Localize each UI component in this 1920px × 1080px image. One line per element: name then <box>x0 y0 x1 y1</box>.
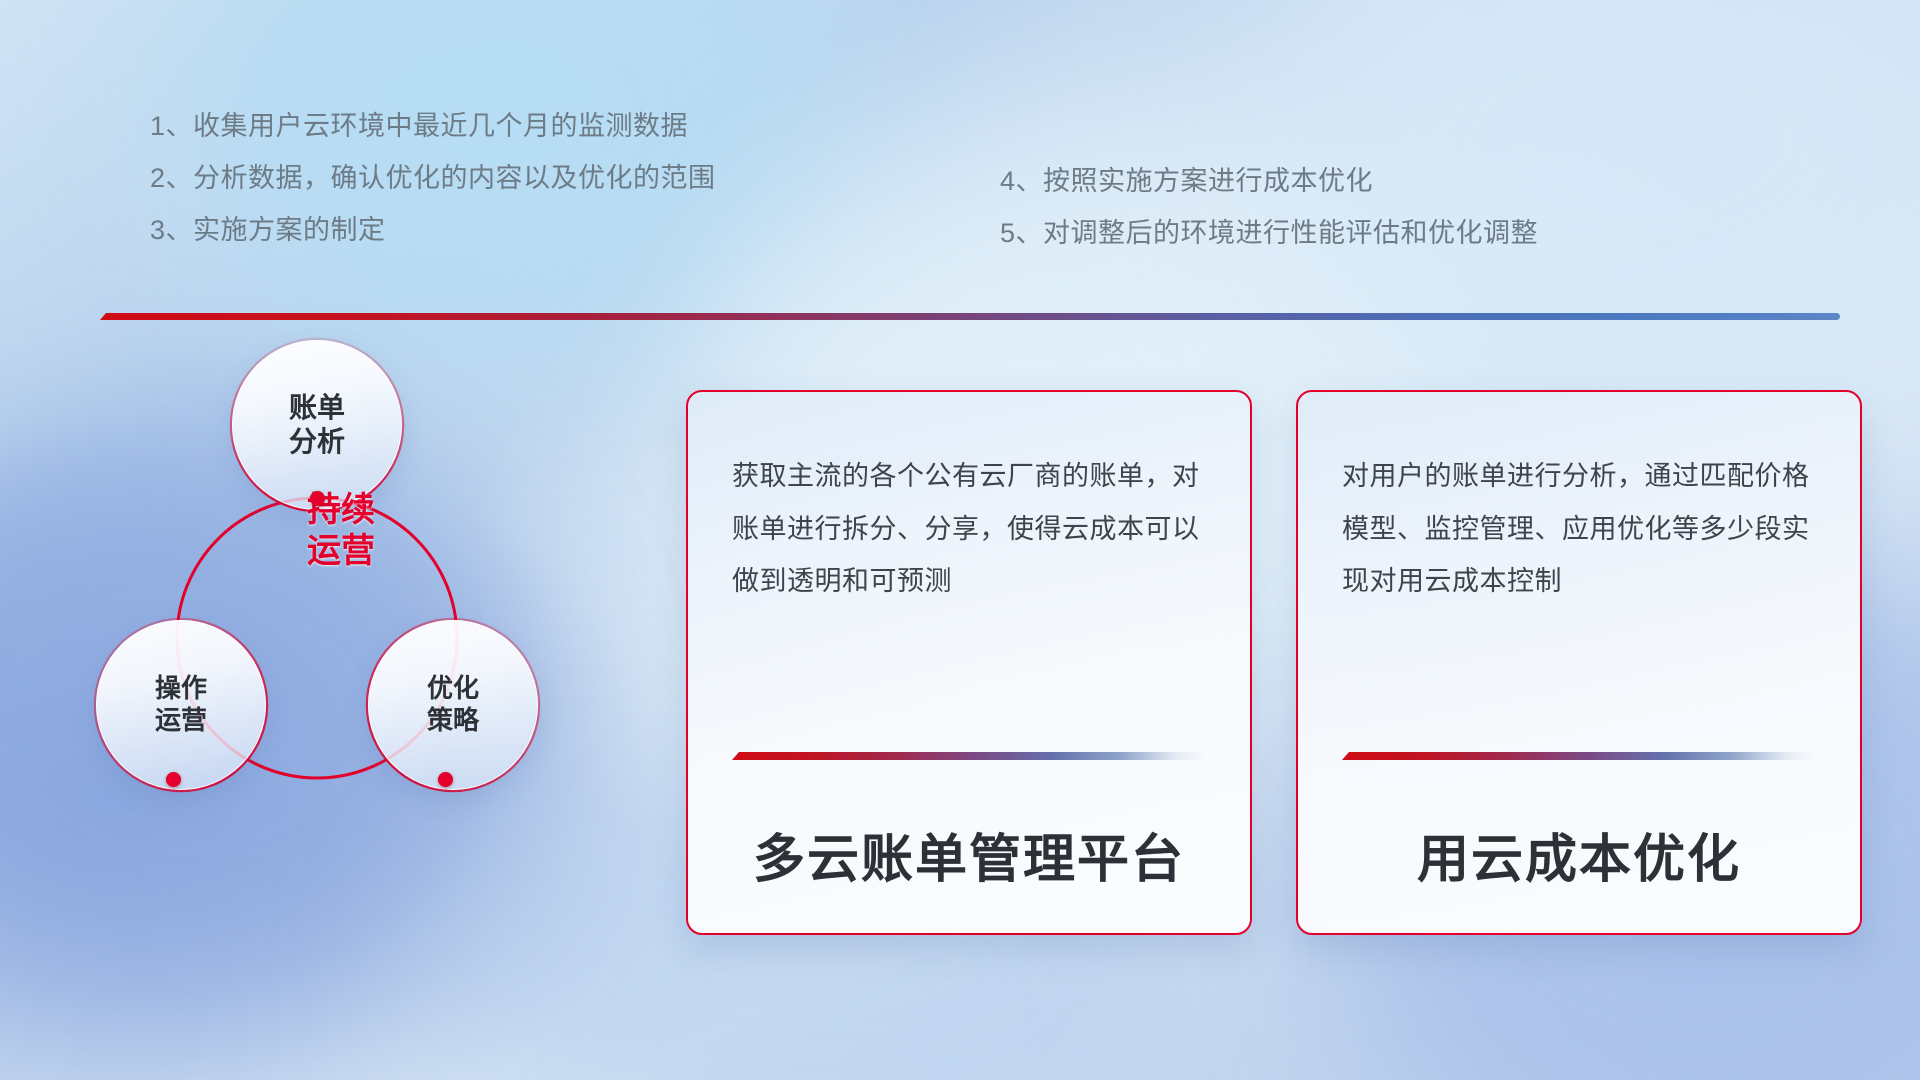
card-divider-rule <box>732 752 1206 760</box>
venn-connector-dot-right <box>438 772 453 787</box>
card-body-text: 获取主流的各个公有云厂商的账单，对账单进行拆分、分享，使得云成本可以做到透明和可… <box>732 450 1206 608</box>
card-title: 用云成本优化 <box>1342 817 1816 892</box>
header-divider-rule <box>100 313 1840 320</box>
venn-center-label: 持续 运营 <box>246 490 436 573</box>
bullet-item: 4、按照实施方案进行成本优化 <box>1000 155 1538 207</box>
venn-node-label-line2: 运营 <box>155 705 207 735</box>
venn-node-label-line2: 策略 <box>427 705 479 735</box>
card-title: 多云账单管理平台 <box>732 817 1206 892</box>
card-divider-rule <box>1342 752 1816 760</box>
venn-node-operations[interactable]: 操作 运营 <box>96 620 266 790</box>
venn-node-label-line1: 优化 <box>427 673 479 703</box>
bullet-item: 1、收集用户云环境中最近几个月的监测数据 <box>150 100 716 152</box>
feature-card-cost-optimization[interactable]: 对用户的账单进行分析，通过匹配价格模型、监控管理、应用优化等多少段实现对用云成本… <box>1296 390 1862 935</box>
venn-diagram: 账单 分析 操作 运营 优化 策略 持续 运营 <box>96 340 566 940</box>
venn-node-label: 账单 分析 <box>289 391 345 459</box>
bullet-item: 5、对调整后的环境进行性能评估和优化调整 <box>1000 207 1538 259</box>
card-body-text: 对用户的账单进行分析，通过匹配价格模型、监控管理、应用优化等多少段实现对用云成本… <box>1342 450 1816 608</box>
venn-node-label-line2: 分析 <box>289 426 345 457</box>
venn-connector-dot-top <box>310 491 325 506</box>
venn-center-label-line2: 运营 <box>307 532 375 570</box>
venn-node-bill-analysis[interactable]: 账单 分析 <box>232 340 402 510</box>
venn-node-label-line1: 操作 <box>155 673 207 703</box>
feature-card-multicloud-billing[interactable]: 获取主流的各个公有云厂商的账单，对账单进行拆分、分享，使得云成本可以做到透明和可… <box>686 390 1252 935</box>
venn-node-label-line1: 账单 <box>289 392 345 423</box>
bullet-item: 2、分析数据，确认优化的内容以及优化的范围 <box>150 152 716 204</box>
bullet-list-right: 4、按照实施方案进行成本优化 5、对调整后的环境进行性能评估和优化调整 <box>1000 155 1538 259</box>
bullet-list-left: 1、收集用户云环境中最近几个月的监测数据 2、分析数据，确认优化的内容以及优化的… <box>150 100 716 256</box>
venn-connector-dot-left <box>166 772 181 787</box>
bullet-item: 3、实施方案的制定 <box>150 204 716 256</box>
venn-node-label: 优化 策略 <box>427 673 479 736</box>
venn-node-label: 操作 运营 <box>155 673 207 736</box>
venn-node-optimization-strategy[interactable]: 优化 策略 <box>368 620 538 790</box>
slide-canvas: 1、收集用户云环境中最近几个月的监测数据 2、分析数据，确认优化的内容以及优化的… <box>0 0 1920 1080</box>
